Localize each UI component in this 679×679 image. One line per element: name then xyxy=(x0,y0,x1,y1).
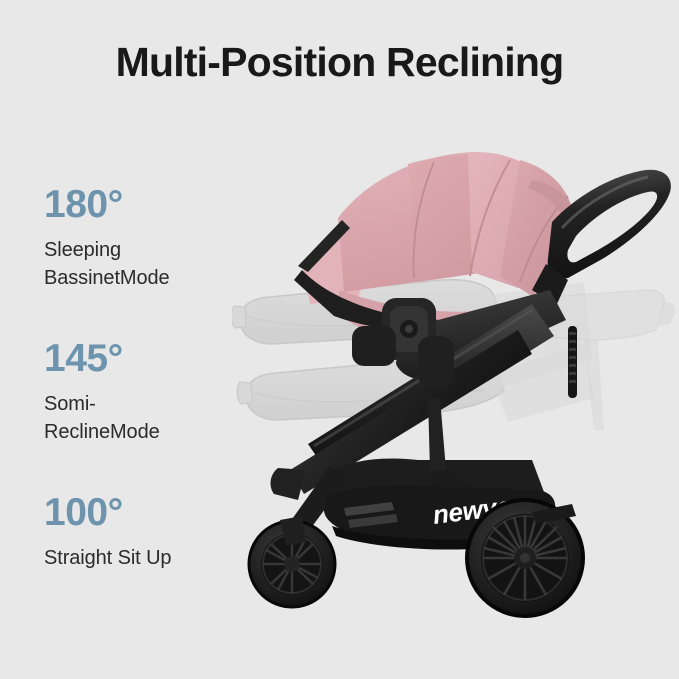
feature-item-somi-recline-mode: 145° Somi- ReclineMode xyxy=(44,336,259,446)
feature-angle-value: 180° xyxy=(44,182,259,228)
feature-label-text: Sleeping BassinetMode xyxy=(44,236,259,292)
page-title: Multi-Position Reclining xyxy=(0,36,679,88)
stroller-front-wheel xyxy=(249,516,335,607)
feature-list: 180° Sleeping BassinetMode 145° Somi- Re… xyxy=(44,182,259,572)
product-image: newyoo xyxy=(232,130,679,650)
feature-label-text: Straight Sit Up xyxy=(44,544,259,572)
feature-label-text: Somi- ReclineMode xyxy=(44,390,259,446)
feature-angle-value: 100° xyxy=(44,490,259,536)
feature-item-sleeping-bassinet-mode: 180° Sleeping BassinetMode xyxy=(44,182,259,292)
feature-angle-value: 145° xyxy=(44,336,259,382)
marketing-image-root: Multi-Position Reclining 180° Sleeping B… xyxy=(0,0,679,679)
feature-item-straight-sit-up: 100° Straight Sit Up xyxy=(44,490,259,572)
